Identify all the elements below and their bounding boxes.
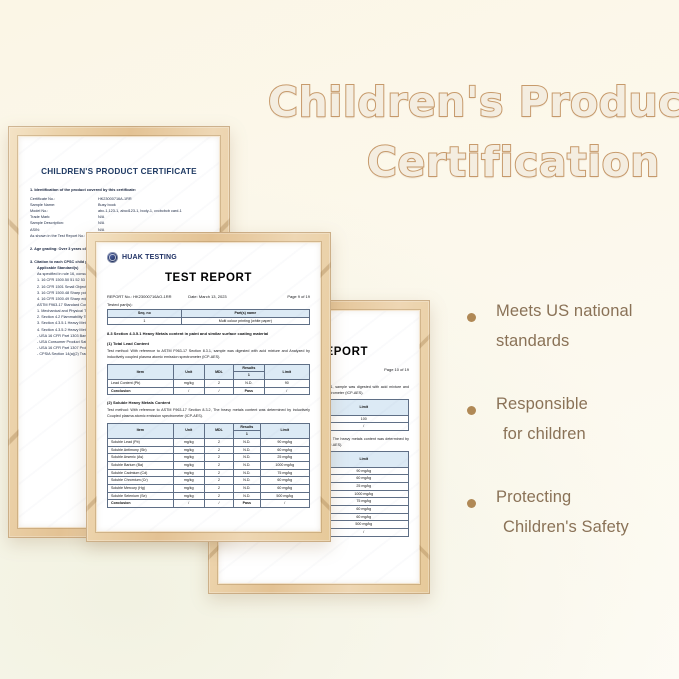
table-cell: N.D. <box>234 454 260 462</box>
parts-th-seq: Seq. no <box>108 310 182 318</box>
table-row: Soluble Arsenic (As)mg/kg2N.D.25 mg/kg <box>108 454 310 462</box>
table-row: Soluble Lead (Pb)mg/kg2N.D.90 mg/kg <box>108 438 310 446</box>
lead-test-method: Test method: With reference to ASTM F963… <box>107 349 310 360</box>
table-cell: / <box>173 500 204 508</box>
table-cell: mg/kg <box>173 492 204 500</box>
table-row: Soluble Selenium (Se)mg/kg2N.D.500 mg/kg <box>108 492 310 500</box>
table-cell: / <box>264 387 309 395</box>
tested-parts-table: Seq. no Part(s) name 1 Multi colour prin… <box>107 309 310 325</box>
table-cell: Soluble Lead (Pb) <box>108 438 174 446</box>
table-cell: Soluble Mercury (Hg) <box>108 484 174 492</box>
page-title: Children's Product Certification <box>268 72 672 192</box>
table-cell: / <box>173 387 204 395</box>
huak-testing-seal-icon <box>107 252 118 263</box>
table-cell: 75 mg/kg <box>319 498 409 506</box>
lead-th-results: Results <box>234 364 265 372</box>
parts-row-name: Multi colour printing (white paper) <box>181 317 309 325</box>
table-cell: N.D. <box>234 379 265 387</box>
table-cell: N.D. <box>234 477 260 485</box>
table-cell: 1000 mg/kg <box>319 490 409 498</box>
lead-th-limit: Limit <box>264 364 309 379</box>
bullet-dot-icon <box>467 406 476 415</box>
table-cell: Lead Content (Pb) <box>108 379 174 387</box>
report-paper: HUAK TESTING TEST REPORT REPORT No.: HK2… <box>97 243 320 531</box>
table-cell: / <box>204 500 233 508</box>
soluble-heavy-metals-body: Soluble Lead (Pb)mg/kg2N.D.90 mg/kgSolub… <box>108 438 310 507</box>
soluble-subsection-heading: (2) Soluble Heavy Metals Content <box>107 400 310 405</box>
table-cell: N.D. <box>234 438 260 446</box>
table-cell: 2 <box>204 438 233 446</box>
feature-item-1-line-1: Meets US national <box>496 296 676 326</box>
table-cell: 60 mg/kg <box>319 505 409 513</box>
tested-parts-label: Tested part(s): <box>107 302 310 307</box>
table-cell: 2 <box>204 492 233 500</box>
table-cell: 1000 mg/kg <box>260 461 309 469</box>
table-cell: N.D. <box>234 484 260 492</box>
table-cell: 500 mg/kg <box>319 521 409 529</box>
lead-th-results-sub: 1 <box>234 372 265 380</box>
table-cell: 60 mg/kg <box>260 484 309 492</box>
table-cell: 60 mg/kg <box>319 475 409 483</box>
soluble-test-method: Test method: With reference to ASTM F963… <box>107 408 310 419</box>
report-number: REPORT No.: HK23000716AO-1RR <box>107 294 188 299</box>
table-row: Soluble Barium (Ba)mg/kg2N.D.1000 mg/kg <box>108 461 310 469</box>
table-cell: mg/kg <box>173 461 204 469</box>
report2-lead-conclusion-limit: / <box>319 423 409 431</box>
table-cell: mg/kg <box>173 469 204 477</box>
report-date: Date: March 13, 2023 <box>188 294 261 299</box>
table-cell: mg/kg <box>173 484 204 492</box>
report-page: Page 9 of 19 <box>261 294 310 299</box>
lead-subsection-heading: (1) Total Lead Content <box>107 341 310 346</box>
feature-item-1-line-2: standards <box>496 326 676 356</box>
report2-lead-th-limit: Limit <box>319 400 409 415</box>
framed-test-report-page-9: HUAK TESTING TEST REPORT REPORT No.: HK2… <box>86 232 331 542</box>
table-cell: / <box>260 500 309 508</box>
table-cell: mg/kg <box>173 379 204 387</box>
table-cell: mg/kg <box>173 438 204 446</box>
table-cell: Soluble Antimony (Sb) <box>108 446 174 454</box>
table-cell: N.D. <box>234 492 260 500</box>
soluble-th-mdl: MDL <box>204 423 233 438</box>
table-cell: N.D. <box>234 469 260 477</box>
table-row: Conclusion//Pass/ <box>108 387 310 395</box>
table-row: Lead Content (Pb)mg/kg2N.D.90 <box>108 379 310 387</box>
table-cell: N.D. <box>234 446 260 454</box>
soluble-th-results-sub: 1 <box>234 431 260 439</box>
parts-row-seq: 1 <box>108 317 182 325</box>
parts-th-name: Part(s) name <box>181 310 309 318</box>
soluble-th-unit: Unit <box>173 423 204 438</box>
table-cell: Soluble Barium (Ba) <box>108 461 174 469</box>
soluble-heavy-metals-table: Item Unit MDL Results Limit 1 Soluble Le… <box>107 423 310 508</box>
table-cell: 90 mg/kg <box>260 438 309 446</box>
lead-th-unit: Unit <box>173 364 204 379</box>
feature-list: Meets US national standards Responsible … <box>462 296 676 575</box>
report-section-heading: 8.3 Section 4.3.5.1 Heavy Metals content… <box>107 331 310 336</box>
table-row: Soluble Antimony (Sb)mg/kg2N.D.60 mg/kg <box>108 446 310 454</box>
feature-item-1: Meets US national standards <box>462 296 676 356</box>
table-cell: 2 <box>204 461 233 469</box>
bullet-dot-icon <box>467 313 476 322</box>
table-cell: 25 mg/kg <box>319 482 409 490</box>
table-cell: 2 <box>204 454 233 462</box>
table-row: Soluble Cadmium (Cd)mg/kg2N.D.75 mg/kg <box>108 469 310 477</box>
promo-image-canvas: Children's Product Certification Meets U… <box>0 0 679 679</box>
table-cell: mg/kg <box>173 446 204 454</box>
table-cell: / <box>204 387 233 395</box>
certificate-section-1: 1. Identification of the product covered… <box>30 187 208 193</box>
soluble-th-results: Results <box>234 423 260 431</box>
table-cell: Soluble Cadmium (Cd) <box>108 469 174 477</box>
report2-lead-limit: 100 <box>319 415 409 423</box>
report-meta: REPORT No.: HK23000716AO-1RR Date: March… <box>107 294 310 299</box>
total-lead-content-table: Item Unit MDL Results Limit 1 Lead Conte… <box>107 364 310 396</box>
table-row: Soluble Mercury (Hg)mg/kg2N.D.60 mg/kg <box>108 484 310 492</box>
table-cell: 90 <box>264 379 309 387</box>
table-cell: mg/kg <box>173 454 204 462</box>
table-cell: 25 mg/kg <box>260 454 309 462</box>
feature-item-3-line-1: Protecting <box>496 482 676 512</box>
table-cell: Conclusion <box>108 387 174 395</box>
feature-item-2: Responsible for children <box>462 389 676 449</box>
table-cell: 2 <box>204 446 233 454</box>
table-cell: N.D. <box>234 461 260 469</box>
table-cell: 75 mg/kg <box>260 469 309 477</box>
bullet-dot-icon <box>467 499 476 508</box>
table-cell: 90 mg/kg <box>319 467 409 475</box>
lead-th-mdl: MDL <box>204 364 233 379</box>
table-cell: Pass <box>234 387 265 395</box>
report2-page: Page 10 of 19 <box>366 367 409 372</box>
table-cell: 60 mg/kg <box>260 446 309 454</box>
total-lead-content-body: Lead Content (Pb)mg/kg2N.D.90Conclusion/… <box>108 379 310 394</box>
feature-item-2-line-1: Responsible <box>496 389 676 419</box>
table-cell: 2 <box>204 379 233 387</box>
table-cell: Soluble Selenium (Se) <box>108 492 174 500</box>
table-cell: Pass <box>234 500 260 508</box>
title-line-1: Children's Product <box>268 72 672 132</box>
table-cell: 60 mg/kg <box>319 513 409 521</box>
table-cell: 2 <box>204 484 233 492</box>
lead-th-item: Item <box>108 364 174 379</box>
table-cell: Soluble Arsenic (As) <box>108 454 174 462</box>
table-row: Soluble Chromium (Cr)mg/kg2N.D.60 mg/kg <box>108 477 310 485</box>
feature-item-3-line-2: Children's Safety <box>496 512 676 542</box>
table-cell: 500 mg/kg <box>260 492 309 500</box>
report-letterhead: HUAK TESTING <box>107 252 310 263</box>
soluble-th-item: Item <box>108 423 174 438</box>
report2-soluble-th-limit: Limit <box>319 452 409 467</box>
table-cell: mg/kg <box>173 477 204 485</box>
table-cell: Conclusion <box>108 500 174 508</box>
table-cell: / <box>319 528 409 536</box>
table-cell: Soluble Chromium (Cr) <box>108 477 174 485</box>
certificate-title: CHILDREN'S PRODUCT CERTIFICATE <box>30 167 208 176</box>
huak-testing-logo-text: HUAK TESTING <box>122 254 177 261</box>
table-cell: 2 <box>204 469 233 477</box>
feature-item-2-line-2: for children <box>496 419 676 449</box>
title-line-2: Certification <box>268 132 672 192</box>
feature-item-3: Protecting Children's Safety <box>462 482 676 542</box>
table-cell: 2 <box>204 477 233 485</box>
table-cell: 60 mg/kg <box>260 477 309 485</box>
soluble-th-limit: Limit <box>260 423 309 438</box>
report-title: TEST REPORT <box>107 272 310 284</box>
table-row: Conclusion//Pass/ <box>108 500 310 508</box>
